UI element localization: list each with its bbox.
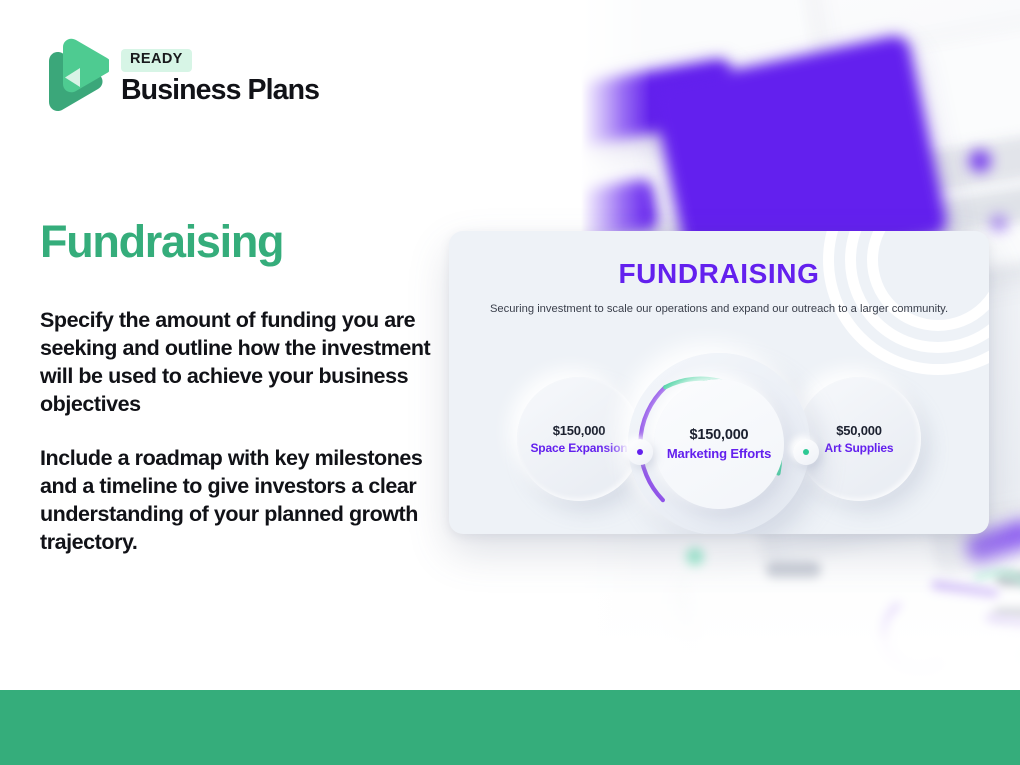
funding-label: Space Expansion: [530, 441, 627, 455]
blurred-purple-dot: [991, 215, 1007, 231]
body-paragraph-1: Specify the amount of funding you are se…: [40, 306, 432, 419]
funding-label: Marketing Efforts: [667, 446, 771, 461]
funding-label: Art Supplies: [825, 441, 894, 455]
slide-root: READY Business Plans Fundraising Specify…: [0, 0, 1020, 765]
funding-amount: $50,000: [836, 423, 882, 438]
footer-bar: [0, 690, 1020, 765]
center-circle-inner: $150,000 Marketing Efforts: [654, 379, 784, 509]
funding-circles-group: $150,000 Space Expansion $50,000 Art Sup…: [449, 364, 989, 514]
funding-circle-marketing-efforts[interactable]: $150,000 Marketing Efforts: [628, 353, 810, 534]
brand-name: Business Plans: [121, 76, 319, 106]
funding-amount: $150,000: [553, 423, 606, 438]
blurred-text-block: [996, 573, 1020, 586]
blurred-purple-stroke: [985, 614, 1020, 632]
blurred-slide-mock: [686, 515, 1020, 690]
blurred-text-block: [993, 608, 1020, 621]
preview-subtitle: Securing investment to scale our operati…: [449, 302, 989, 317]
slide-preview-card[interactable]: FUNDRAISING Securing investment to scale…: [449, 231, 989, 534]
blurred-green-arc: [938, 559, 1020, 679]
brand-logo-text: READY Business Plans: [121, 46, 319, 105]
body-copy: Specify the amount of funding you are se…: [40, 306, 432, 556]
page-title: Fundraising: [40, 218, 283, 267]
blurred-purple-arc: [875, 589, 965, 679]
blurred-purple-dot: [969, 150, 991, 172]
double-play-triangle-logo-icon: [41, 37, 109, 115]
connector-dot-right-icon: [793, 439, 819, 465]
funding-circle-art-supplies[interactable]: $50,000 Art Supplies: [797, 377, 921, 501]
blurred-purple-stroke: [931, 580, 1000, 598]
connector-dot-left-icon: [627, 439, 653, 465]
body-paragraph-2: Include a roadmap with key milestones an…: [40, 444, 432, 557]
blurred-green-dot: [686, 548, 704, 566]
funding-amount: $150,000: [690, 427, 749, 443]
funding-circle-space-expansion[interactable]: $150,000 Space Expansion: [517, 377, 641, 501]
blurred-text-block: [766, 562, 821, 578]
brand-logo: READY Business Plans: [41, 37, 319, 115]
preview-title: FUNDRAISING: [449, 258, 989, 290]
ready-badge: READY: [121, 49, 192, 71]
